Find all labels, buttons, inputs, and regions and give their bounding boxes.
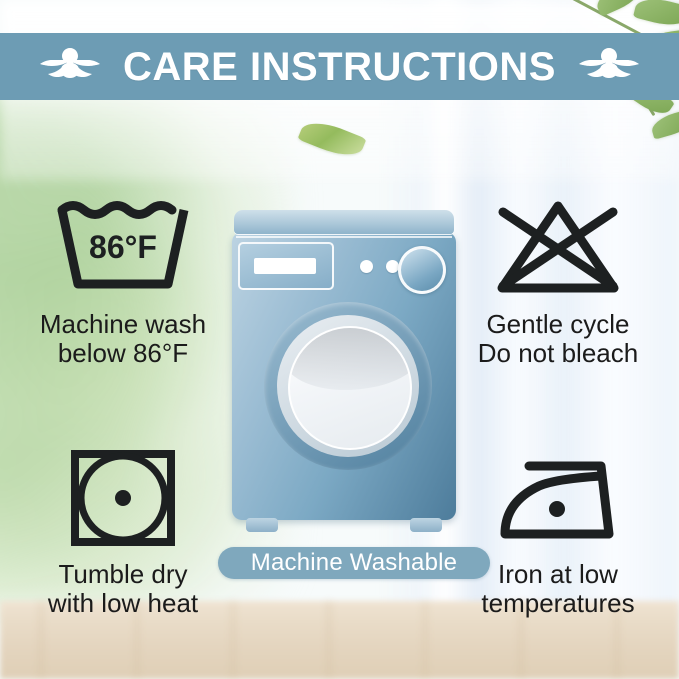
wash-temperature-label: 86°F: [89, 229, 157, 265]
iron-icon: [443, 442, 673, 554]
control-dot-icon: [360, 260, 373, 273]
care-item-do-not-bleach: Gentle cycle Do not bleach: [443, 192, 673, 369]
care-instructions-infographic: CARE INSTRUCTIONS 86°F Mac: [0, 0, 679, 679]
care-caption-line1: Tumble dry: [8, 560, 238, 589]
crossed-triangle-icon: [443, 192, 673, 304]
care-item-tumble-dry: Tumble dry with low heat: [8, 442, 238, 619]
machine-lid: [234, 210, 454, 234]
care-caption: Machine wash below 86°F: [8, 310, 238, 369]
status-badge-label: Machine Washable: [251, 551, 457, 575]
status-badge: Machine Washable: [218, 547, 490, 579]
tumble-dry-icon: [8, 442, 238, 554]
care-item-machine-wash: 86°F Machine wash below 86°F: [8, 192, 238, 369]
machine-foot: [410, 518, 442, 532]
machine-panel-divider: [236, 236, 452, 238]
care-caption: Tumble dry with low heat: [8, 560, 238, 619]
detergent-drawer-slot: [254, 258, 316, 274]
care-caption-line2: with low heat: [8, 589, 238, 618]
fleur-de-lis-icon: [578, 44, 640, 90]
care-caption-line1: Machine wash: [8, 310, 238, 339]
detergent-drawer: [238, 242, 334, 290]
machine-foot: [246, 518, 278, 532]
leaf-icon: [633, 0, 679, 30]
care-caption-line2: temperatures: [443, 589, 673, 618]
care-caption-line2: Do not bleach: [443, 339, 673, 368]
machine-door-glass: [288, 326, 412, 450]
program-dial: [398, 246, 446, 294]
care-item-iron: Iron at low temperatures: [443, 442, 673, 619]
care-caption-line2: below 86°F: [8, 339, 238, 368]
banner: CARE INSTRUCTIONS: [0, 33, 679, 100]
page-title: CARE INSTRUCTIONS: [123, 47, 556, 87]
machine-door-glass-highlight: [288, 326, 412, 390]
fleur-de-lis-icon: [39, 44, 101, 90]
care-caption-line1: Gentle cycle: [443, 310, 673, 339]
wash-tub-icon: 86°F: [8, 192, 238, 304]
washing-machine-illustration: [232, 210, 456, 532]
care-caption: Gentle cycle Do not bleach: [443, 310, 673, 369]
